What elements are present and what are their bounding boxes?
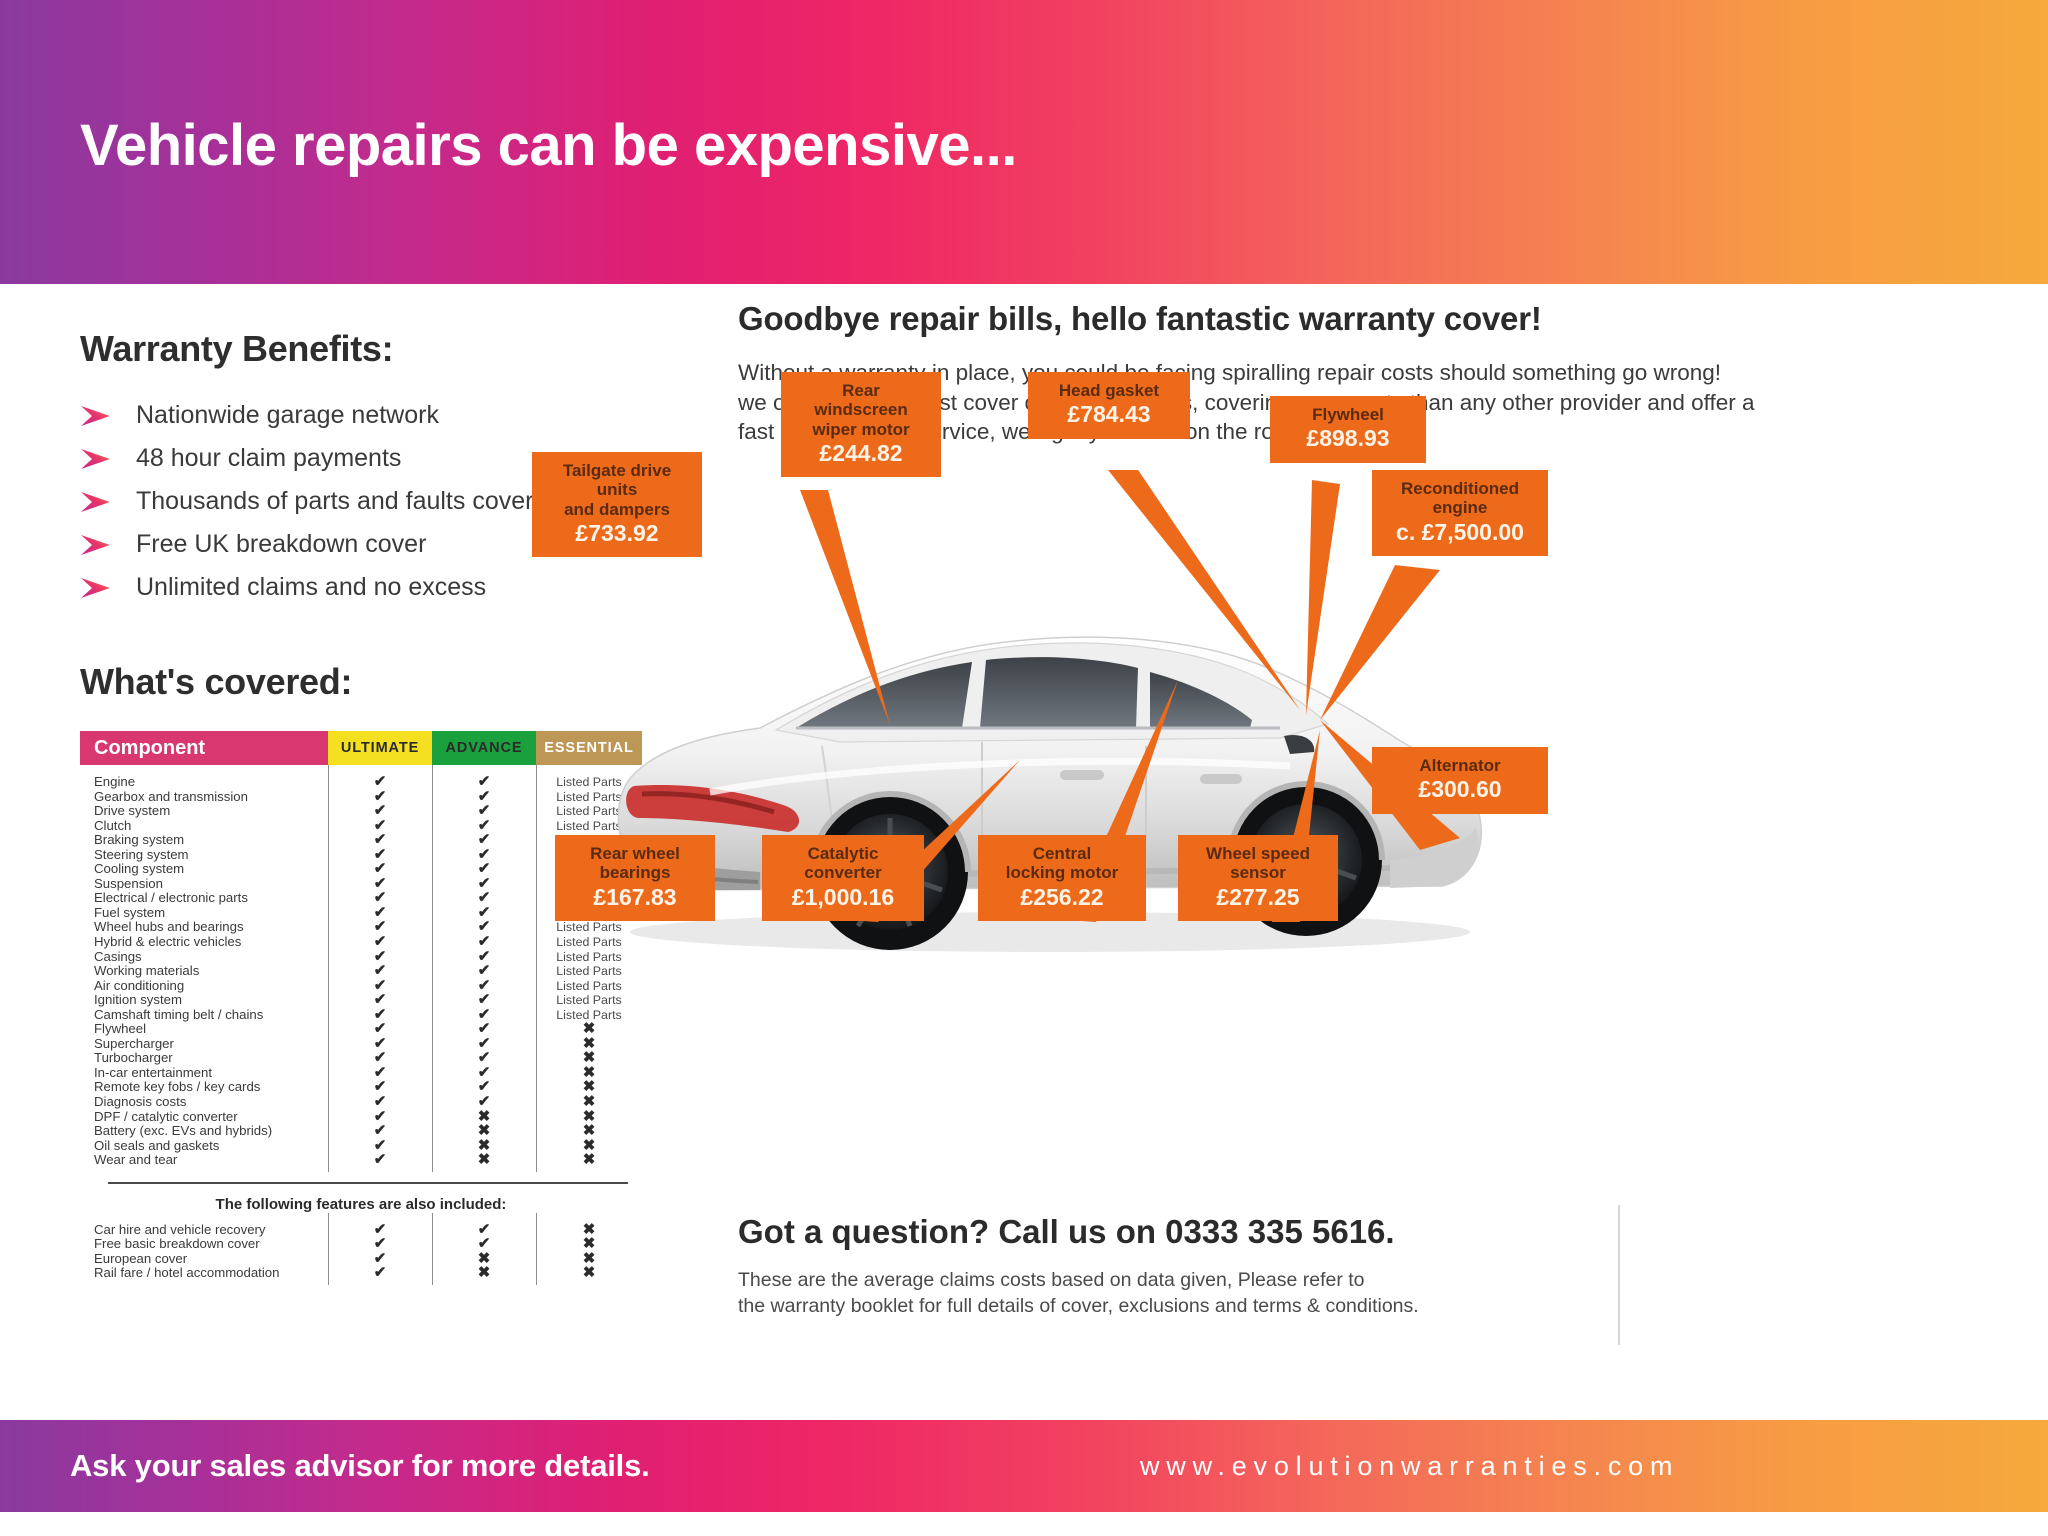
table-row-label: Suspension bbox=[94, 877, 328, 892]
table-extra-body: Car hire and vehicle recoveryFree basic … bbox=[80, 1213, 642, 1281]
table-divider-line bbox=[328, 765, 329, 1172]
check-icon: ✔ bbox=[328, 1266, 432, 1281]
table-row-label: Camshaft timing belt / chains bbox=[94, 1008, 328, 1023]
cta-block: Got a question? Call us on 0333 335 5616… bbox=[738, 1213, 1978, 1320]
leader-flywheel bbox=[1306, 480, 1340, 715]
callout-price: £167.83 bbox=[569, 885, 701, 910]
column-header-ultimate: ULTIMATE bbox=[328, 731, 432, 765]
leader-wiper bbox=[800, 490, 890, 725]
leader-headgasket bbox=[1100, 470, 1300, 710]
table-row-label: Electrical / electronic parts bbox=[94, 891, 328, 906]
table-row-label: Drive system bbox=[94, 804, 328, 819]
table-row-label: Free basic breakdown cover bbox=[94, 1237, 328, 1252]
table-divider-line bbox=[432, 1213, 433, 1285]
cross-icon: ✖ bbox=[432, 1153, 536, 1168]
table-row-label: Diagnosis costs bbox=[94, 1095, 328, 1110]
callout-flywheel: Flywheel £898.93 bbox=[1270, 396, 1426, 463]
table-row-label: Steering system bbox=[94, 848, 328, 863]
table-row-label: Oil seals and gaskets bbox=[94, 1139, 328, 1154]
callout-price: £277.25 bbox=[1192, 885, 1324, 910]
cross-icon: ✖ bbox=[536, 1266, 642, 1281]
footer-website-url[interactable]: www.evolutionwarranties.com bbox=[1140, 1451, 1679, 1482]
listed-parts-label: Listed Parts bbox=[536, 979, 642, 994]
table-row-label: DPF / catalytic converter bbox=[94, 1110, 328, 1125]
callout-label: Reconditionedengine bbox=[1386, 479, 1534, 518]
callout-label: Rear windscreenwiper motor bbox=[795, 381, 927, 439]
callout-price: c. £7,500.00 bbox=[1386, 520, 1534, 545]
chevron-right-icon bbox=[80, 491, 114, 513]
cta-disclaimer: These are the average claims costs based… bbox=[738, 1267, 1978, 1320]
table-row-label: Braking system bbox=[94, 833, 328, 848]
car-diagram: Tailgate drive unitsand dampers £733.92 … bbox=[700, 470, 2030, 1200]
callout-price: £244.82 bbox=[795, 441, 927, 466]
benefit-label: Free UK breakdown cover bbox=[136, 530, 426, 559]
table-header-row: Component ULTIMATE ADVANCE ESSENTIAL bbox=[80, 731, 642, 765]
chevron-right-icon bbox=[80, 448, 114, 470]
table-row-label: Ignition system bbox=[94, 993, 328, 1008]
advance-column: ✔✔✔✔✔✔✔✔✔✔✔✔✔✔✔✔✔✔✔✔✔✔✔✖✖✖✖ bbox=[432, 775, 536, 1168]
chevron-right-icon bbox=[80, 405, 114, 427]
extra-component-name-column: Car hire and vehicle recoveryFree basic … bbox=[80, 1223, 328, 1281]
callout-alternator: Alternator £300.60 bbox=[1372, 747, 1548, 814]
callout-wiper-motor: Rear windscreenwiper motor £244.82 bbox=[781, 372, 941, 477]
benefit-label: Thousands of parts and faults covered bbox=[136, 487, 561, 516]
extra-ultimate-column: ✔✔✔✔ bbox=[328, 1223, 432, 1281]
intro-heading: Goodbye repair bills, hello fantastic wa… bbox=[738, 300, 1988, 338]
footer-bar: Ask your sales advisor for more details.… bbox=[0, 1420, 2048, 1512]
footer-tagline: Ask your sales advisor for more details. bbox=[70, 1448, 650, 1484]
bottom-spacer bbox=[0, 1512, 2048, 1536]
check-icon: ✔ bbox=[328, 1153, 432, 1168]
callout-price: £898.93 bbox=[1284, 426, 1412, 451]
table-row-label: Battery (exc. EVs and hybrids) bbox=[94, 1124, 328, 1139]
callout-catalytic-converter: Catalyticconverter £1,000.16 bbox=[762, 835, 924, 921]
listed-parts-label: Listed Parts bbox=[536, 993, 642, 1008]
table-section-divider bbox=[108, 1182, 628, 1184]
callout-label: Wheel speedsensor bbox=[1192, 844, 1324, 883]
callout-label: Alternator bbox=[1386, 756, 1534, 775]
callout-label: Tailgate drive unitsand dampers bbox=[546, 461, 688, 519]
extra-essential-column: ✖✖✖✖ bbox=[536, 1223, 642, 1281]
chevron-right-icon bbox=[80, 534, 114, 556]
table-row-label: Casings bbox=[94, 950, 328, 965]
table-row-label: Working materials bbox=[94, 964, 328, 979]
also-included-note: The following features are also included… bbox=[80, 1196, 642, 1213]
page-title: Vehicle repairs can be expensive... bbox=[80, 112, 1017, 179]
callout-label: Centrallocking motor bbox=[992, 844, 1132, 883]
table-row-label: Air conditioning bbox=[94, 979, 328, 994]
cross-icon: ✖ bbox=[536, 1153, 642, 1168]
cross-icon: ✖ bbox=[432, 1266, 536, 1281]
benefit-label: Nationwide garage network bbox=[136, 401, 439, 430]
callout-price: £733.92 bbox=[546, 521, 688, 546]
callout-price: £256.22 bbox=[992, 885, 1132, 910]
callout-label: Catalyticconverter bbox=[776, 844, 910, 883]
table-row-label: Fuel system bbox=[94, 906, 328, 921]
callout-price: £1,000.16 bbox=[776, 885, 910, 910]
callout-label: Rear wheelbearings bbox=[569, 844, 701, 883]
table-row-label: In-car entertainment bbox=[94, 1066, 328, 1081]
disclaimer-line-2: the warranty booklet for full details of… bbox=[738, 1293, 1978, 1319]
callout-reconditioned-engine: Reconditionedengine c. £7,500.00 bbox=[1372, 470, 1548, 556]
extra-advance-column: ✔✔✖✖ bbox=[432, 1223, 536, 1281]
table-row-label: Clutch bbox=[94, 819, 328, 834]
callout-price: £300.60 bbox=[1386, 777, 1534, 802]
table-divider-line bbox=[536, 765, 537, 1172]
table-row-label: Gearbox and transmission bbox=[94, 790, 328, 805]
callout-label: Flywheel bbox=[1284, 405, 1412, 424]
table-row-label: European cover bbox=[94, 1252, 328, 1267]
table-row-label: Turbocharger bbox=[94, 1051, 328, 1066]
table-divider-line bbox=[328, 1213, 329, 1285]
table-row-label: Remote key fobs / key cards bbox=[94, 1080, 328, 1095]
callout-price: £784.43 bbox=[1042, 402, 1176, 427]
callout-head-gasket: Head gasket £784.43 bbox=[1028, 372, 1190, 439]
cta-phone-heading: Got a question? Call us on 0333 335 5616… bbox=[738, 1213, 1978, 1251]
table-row-label: Flywheel bbox=[94, 1022, 328, 1037]
table-row-label: Supercharger bbox=[94, 1037, 328, 1052]
table-row-label: Engine bbox=[94, 775, 328, 790]
hero-banner: Vehicle repairs can be expensive... bbox=[0, 0, 2048, 284]
table-row-label: Car hire and vehicle recovery bbox=[94, 1223, 328, 1238]
column-header-component: Component bbox=[80, 731, 328, 765]
callout-tailgate: Tailgate drive unitsand dampers £733.92 bbox=[532, 452, 702, 557]
table-divider-line bbox=[536, 1213, 537, 1285]
disclaimer-line-1: These are the average claims costs based… bbox=[738, 1267, 1978, 1293]
component-name-column: EngineGearbox and transmissionDrive syst… bbox=[80, 775, 328, 1168]
column-header-advance: ADVANCE bbox=[432, 731, 536, 765]
infographic-page: Vehicle repairs can be expensive... Warr… bbox=[0, 0, 2048, 1536]
table-row-label: Hybrid & electric vehicles bbox=[94, 935, 328, 950]
benefit-label: Unlimited claims and no excess bbox=[136, 573, 486, 602]
table-row-label: Rail fare / hotel accommodation bbox=[94, 1266, 328, 1281]
table-row-label: Cooling system bbox=[94, 862, 328, 877]
callout-wheel-speed-sensor: Wheel speedsensor £277.25 bbox=[1178, 835, 1338, 921]
coverage-table: Component ULTIMATE ADVANCE ESSENTIAL Eng… bbox=[80, 731, 642, 1281]
callout-label: Head gasket bbox=[1042, 381, 1176, 400]
chevron-right-icon bbox=[80, 577, 114, 599]
table-divider-line bbox=[432, 765, 433, 1172]
table-row-label: Wheel hubs and bearings bbox=[94, 920, 328, 935]
callout-rear-wheel-bearings: Rear wheelbearings £167.83 bbox=[555, 835, 715, 921]
leader-recon bbox=[1320, 565, 1440, 720]
table-body: EngineGearbox and transmissionDrive syst… bbox=[80, 765, 642, 1168]
warranty-benefits-heading: Warranty Benefits: bbox=[80, 328, 680, 370]
callout-central-locking-motor: Centrallocking motor £256.22 bbox=[978, 835, 1146, 921]
benefit-label: 48 hour claim payments bbox=[136, 444, 401, 473]
ultimate-column: ✔✔✔✔✔✔✔✔✔✔✔✔✔✔✔✔✔✔✔✔✔✔✔✔✔✔✔ bbox=[328, 775, 432, 1168]
benefit-item: Nationwide garage network bbox=[80, 394, 680, 437]
table-row-label: Wear and tear bbox=[94, 1153, 328, 1168]
